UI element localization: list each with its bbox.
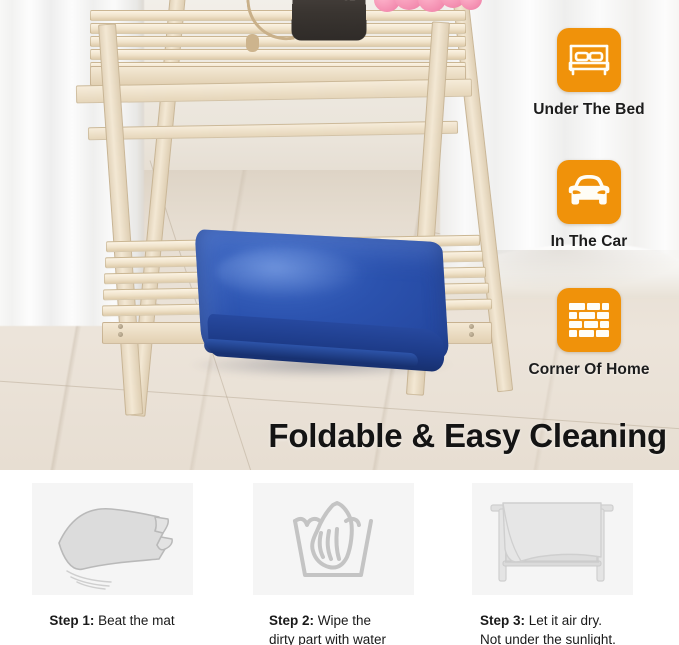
dark-planter-pot: 02 [291,0,367,41]
step-number: Step 2: [269,613,314,628]
brick-wall-icon [557,288,621,352]
care-step-1: Step 1: Beat the mat [12,483,212,630]
feature-label: In The Car [523,233,655,251]
feature-corner-of-home: Corner Of Home [523,288,655,379]
pink-yarn-toy [374,0,484,18]
lifestyle-photo: 02 [0,0,679,470]
care-step-1-text: Step 1: Beat the mat [12,611,212,630]
step-number: Step 3: [480,613,525,628]
blue-cooling-mat [198,236,446,381]
feature-in-the-car: In The Car [523,160,655,251]
step-body-line2: Not under the sunlight. [480,632,616,645]
care-step-2: Step 2: Wipe the dirty part with water [233,483,433,645]
step-body-line2: dirty part with water [269,632,386,645]
feature-label: Under The Bed [523,101,655,119]
care-instructions: Step 1: Beat the mat Step 2 [0,470,679,645]
care-step-2-text: Step 2: Wipe the dirty part with water [233,611,433,645]
step-number: Step 1: [49,613,94,628]
product-feature-page: 02 [0,0,679,645]
feature-label: Corner Of Home [523,361,655,379]
step-body: Beat the mat [98,613,175,628]
drying-rack-icon [472,483,633,595]
bed-icon [557,28,621,92]
care-step-3: Step 3: Let it air dry. Not under the su… [452,483,652,645]
step-body-line1: Wipe the [318,613,371,628]
feature-under-the-bed: Under The Bed [523,28,655,119]
step-body-line1: Let it air dry. [529,613,602,628]
car-icon [557,160,621,224]
care-step-3-text: Step 3: Let it air dry. Not under the su… [452,611,652,645]
headline: Foldable & Easy Cleaning [268,417,667,455]
shelf-rail [88,121,458,140]
shaking-mat-icon [32,483,193,595]
rope-knot [246,34,259,52]
hand-wash-basin-icon [253,483,414,595]
